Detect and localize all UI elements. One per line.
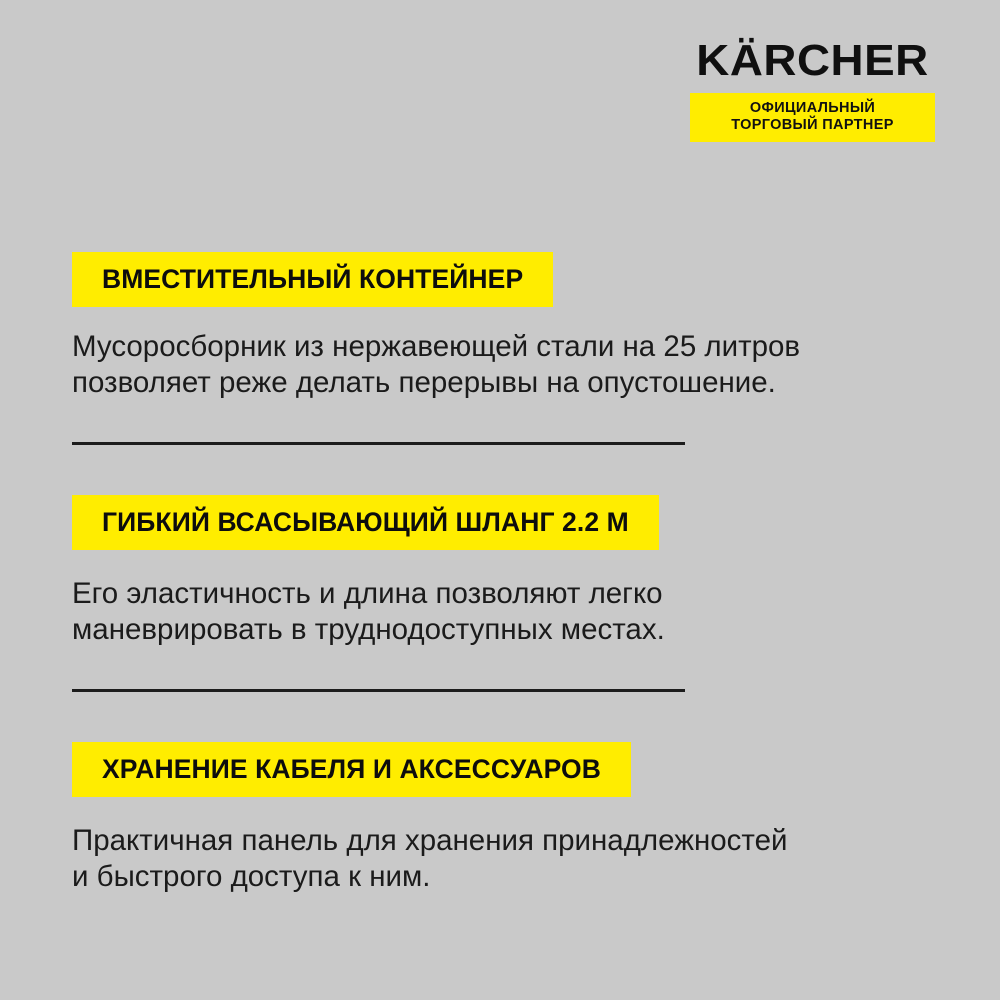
feature-item-storage: ХРАНЕНИЕ КАБЕЛЯ И АКСЕССУАРОВ Практичная…: [72, 742, 928, 895]
official-partner-badge: ОФИЦИАЛЬНЫЙ ТОРГОВЫЙ ПАРТНЕР: [690, 93, 935, 142]
official-partner-badge-line-2: ТОРГОВЫЙ ПАРТНЕР: [696, 117, 929, 134]
feature-heading-container: ВМЕСТИТЕЛЬНЫЙ КОНТЕЙНЕР: [72, 252, 553, 307]
feature-body-line: и быстрого доступа к ним.: [72, 859, 922, 895]
feature-body-container: Мусоросборник из нержавеющей стали на 25…: [72, 329, 922, 401]
feature-body-hose: Его эластичность и длина позволяют легко…: [72, 576, 922, 648]
feature-body-storage: Практичная панель для хранения принадлеж…: [72, 823, 922, 895]
feature-body-line: Практичная панель для хранения принадлеж…: [72, 823, 922, 859]
feature-body-line: позволяет реже делать перерывы на опусто…: [72, 365, 922, 401]
feature-divider: [72, 689, 685, 692]
feature-divider: [72, 442, 685, 445]
brand-block: KÄRCHER ОФИЦИАЛЬНЫЙ ТОРГОВЫЙ ПАРТНЕР: [690, 36, 935, 142]
feature-heading-storage: ХРАНЕНИЕ КАБЕЛЯ И АКСЕССУАРОВ: [72, 742, 631, 797]
feature-body-line: Мусоросборник из нержавеющей стали на 25…: [72, 329, 922, 365]
official-partner-badge-line-1: ОФИЦИАЛЬНЫЙ: [696, 100, 929, 117]
feature-body-line: маневрировать в труднодоступных местах.: [72, 612, 922, 648]
feature-item-container: ВМЕСТИТЕЛЬНЫЙ КОНТЕЙНЕР Мусоросборник из…: [72, 252, 928, 445]
feature-body-line: Его эластичность и длина позволяют легко: [72, 576, 922, 612]
feature-heading-hose: ГИБКИЙ ВСАСЫВАЮЩИЙ ШЛАНГ 2.2 М: [72, 495, 659, 550]
feature-item-hose: ГИБКИЙ ВСАСЫВАЮЩИЙ ШЛАНГ 2.2 М Его эласт…: [72, 495, 928, 692]
karcher-wordmark: KÄRCHER: [685, 36, 940, 86]
feature-list: ВМЕСТИТЕЛЬНЫЙ КОНТЕЙНЕР Мусоросборник из…: [72, 252, 928, 895]
